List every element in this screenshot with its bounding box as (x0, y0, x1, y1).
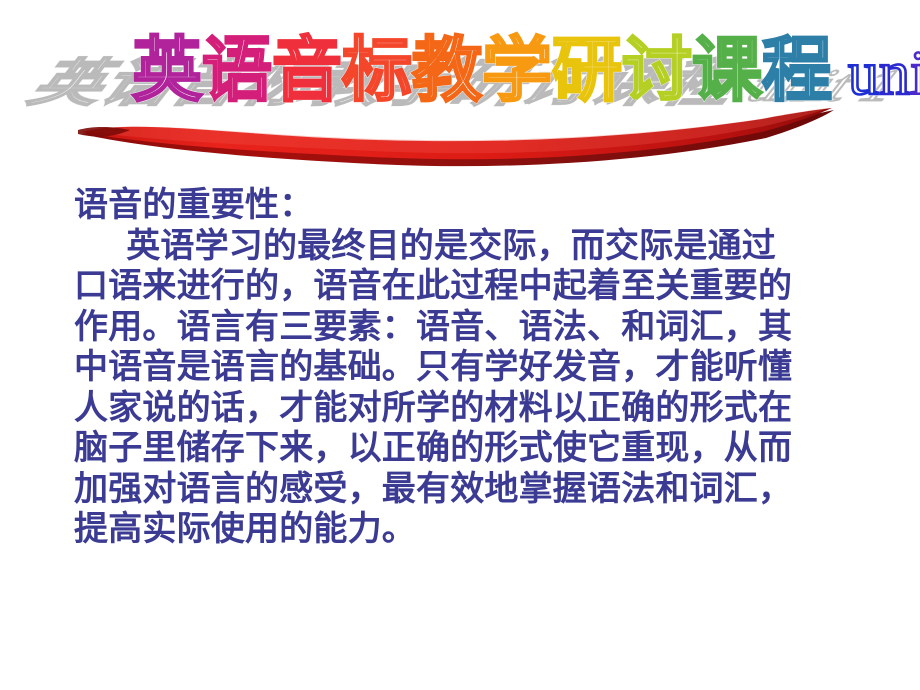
title-glyph: uuu (848, 26, 879, 122)
body-line: 加强对语言的感受，最有效地掌握语法和词汇， (74, 470, 904, 511)
body-paragraph: 语音的重要性： 英语学习的最终目的是交际，而交际是通过口语来进行的，语音在此过程… (74, 186, 904, 551)
title-glyph: nnn (879, 26, 910, 122)
body-line: 作用。语言有三要素：语音、语法、和词汇，其 (74, 308, 904, 349)
title-glyph: 学学学 (482, 24, 552, 120)
title-glyph: 程程程 (762, 24, 832, 120)
slide-canvas: 英语音标教学研讨课程unit 1 英英英语语语音音音标标标教教教学学学研研研讨讨… (0, 0, 920, 690)
body-line: 人家说的话，才能对所学的材料以正确的形式在 (74, 389, 904, 430)
title-glyph: 研研研 (552, 24, 622, 120)
slide-title: 英语音标教学研讨课程unit 1 英英英语语语音音音标标标教教教学学学研研研讨讨… (0, 24, 920, 174)
body-line: 英语学习的最终目的是交际，而交际是通过 (74, 227, 904, 268)
title-glyph: 英英英 (132, 24, 202, 120)
title-glyph: 课课课 (692, 24, 762, 120)
body-line: 提高实际使用的能力。 (74, 510, 904, 551)
title-glyph: 音音音 (272, 24, 342, 120)
body-line: 中语音是语言的基础。只有学好发音，才能听懂 (74, 348, 904, 389)
title-glyph: 讨讨讨 (622, 24, 692, 120)
body-line: 口语来进行的，语音在此过程中起着至关重要的 (74, 267, 904, 308)
body-text-block: 语音的重要性： 英语学习的最终目的是交际，而交际是通过口语来进行的，语音在此过程… (74, 186, 904, 551)
title-text: 英英英语语语音音音标标标教教教学学学研研研讨讨讨课课课程程程uuunnniiit… (132, 24, 920, 122)
title-glyph: 教教教 (412, 24, 482, 120)
title-glyph: 语语语 (202, 24, 272, 120)
title-glyph: 标标标 (342, 24, 412, 120)
title-glyph: iii (910, 26, 920, 122)
title-main-layer: 英英英语语语音音音标标标教教教学学学研研研讨讨讨课课课程程程uuunnniiit… (0, 24, 920, 174)
body-line: 脑子里储存下来，以正确的形式使它重现，从而 (74, 429, 904, 470)
body-line: 语音的重要性： (74, 186, 904, 227)
